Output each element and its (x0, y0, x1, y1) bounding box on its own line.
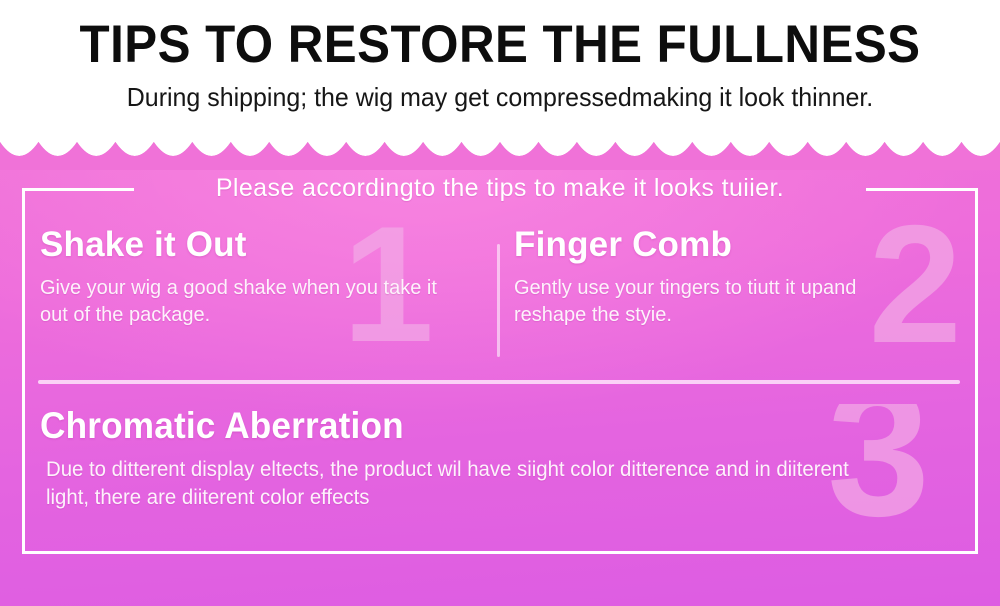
tips-container: 1 Shake it Out Give your wig a good shak… (22, 188, 978, 554)
tip-body-3: Due to ditterent display eltects, the pr… (46, 456, 851, 512)
scalloped-edge-divider (0, 128, 1000, 170)
tip-title-1: Shake it Out (40, 224, 492, 266)
tips-banner: TIPS TO RESTORE THE FULLNESS During ship… (0, 0, 1000, 606)
tip-card-3: 3 Chromatic Aberration Due to ditterent … (40, 404, 966, 544)
horizontal-divider (38, 380, 960, 384)
tip-title-2: Finger Comb (514, 224, 966, 266)
tip-title-3: Chromatic Aberration (40, 404, 920, 448)
tip-body-2: Gently use your tingers to tiutt it upan… (514, 275, 934, 329)
header-subtitle: During shipping; the wig may get compres… (20, 82, 980, 112)
vertical-divider (497, 244, 500, 357)
tip-body-1: Give your wig a good shake when you take… (40, 275, 460, 329)
tip-card-1: 1 Shake it Out Give your wig a good shak… (40, 224, 492, 374)
page-title: TIPS TO RESTORE THE FULLNESS (35, 16, 965, 74)
header-section: TIPS TO RESTORE THE FULLNESS During ship… (0, 0, 1000, 140)
tip-card-2: 2 Finger Comb Gently use your tingers to… (514, 224, 966, 374)
